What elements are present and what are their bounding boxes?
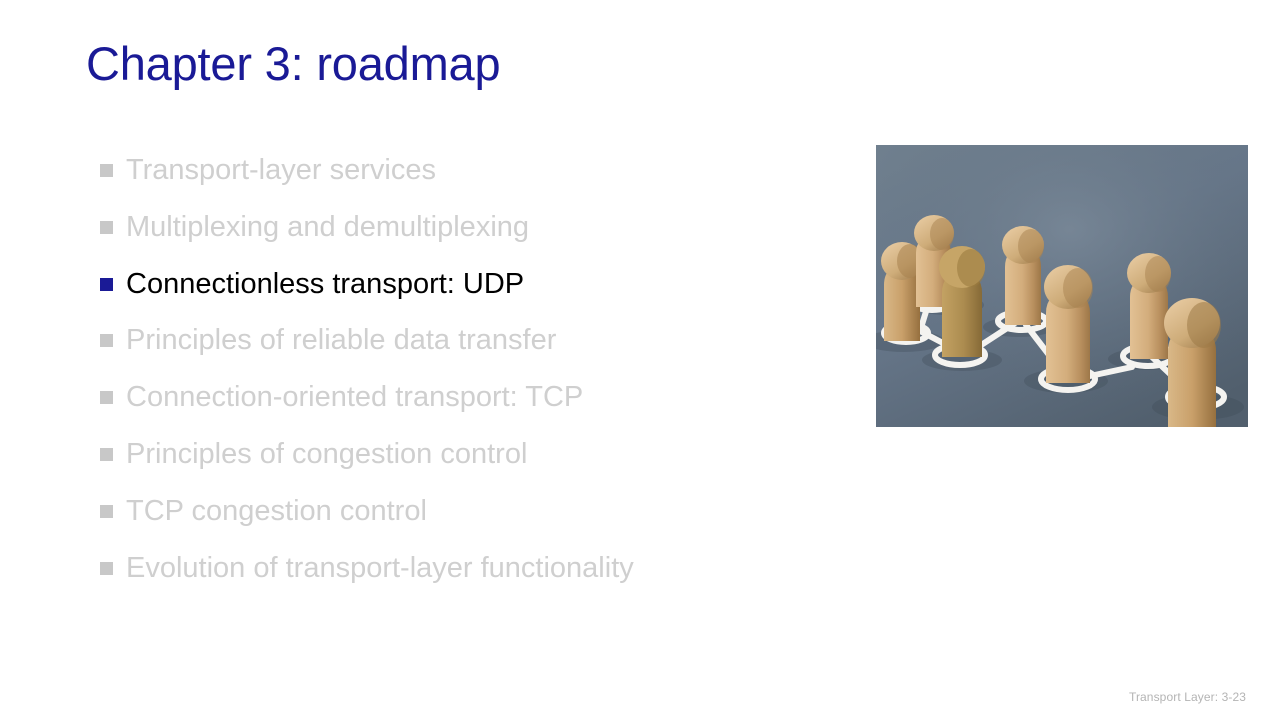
bullet-square-icon bbox=[100, 391, 113, 404]
list-item-label: Evolution of transport-layer functionali… bbox=[126, 546, 634, 592]
network-figures-photo bbox=[876, 145, 1248, 427]
figure-4 bbox=[1002, 226, 1044, 325]
list-item[interactable]: Multiplexing and demultiplexing bbox=[100, 205, 800, 251]
page-title: Chapter 3: roadmap bbox=[86, 39, 500, 90]
network-figures-illustration bbox=[876, 145, 1248, 427]
list-item-label: Principles of reliable data transfer bbox=[126, 318, 556, 364]
list-item-active[interactable]: Connectionless transport: UDP bbox=[100, 262, 800, 308]
bullet-square-icon bbox=[100, 278, 113, 291]
list-item[interactable]: Principles of congestion control bbox=[100, 432, 800, 478]
footer-slide-label: Transport Layer: 3-23 bbox=[1129, 690, 1246, 704]
figure-7 bbox=[1164, 298, 1221, 427]
list-item-label: Multiplexing and demultiplexing bbox=[126, 205, 529, 251]
list-item[interactable]: Connection-oriented transport: TCP bbox=[100, 375, 800, 421]
bullet-square-icon bbox=[100, 448, 113, 461]
list-item[interactable]: Evolution of transport-layer functionali… bbox=[100, 546, 800, 592]
list-item-label: Transport-layer services bbox=[126, 148, 436, 194]
figure-5 bbox=[1044, 265, 1093, 383]
list-item[interactable]: Principles of reliable data transfer bbox=[100, 318, 800, 364]
bullet-square-icon bbox=[100, 221, 113, 234]
figure-6 bbox=[1127, 253, 1171, 359]
bullet-square-icon bbox=[100, 505, 113, 518]
figure-3 bbox=[939, 246, 985, 357]
bullet-square-icon bbox=[100, 562, 113, 575]
list-item[interactable]: TCP congestion control bbox=[100, 489, 800, 535]
list-item-label: Connection-oriented transport: TCP bbox=[126, 375, 583, 421]
list-item[interactable]: Transport-layer services bbox=[100, 148, 800, 194]
list-item-label: Principles of congestion control bbox=[126, 432, 527, 478]
list-item-label: Connectionless transport: UDP bbox=[126, 262, 524, 308]
list-item-label: TCP congestion control bbox=[126, 489, 427, 535]
bullet-square-icon bbox=[100, 334, 113, 347]
slide-root: Chapter 3: roadmap Transport-layer servi… bbox=[0, 0, 1264, 717]
roadmap-list: Transport-layer services Multiplexing an… bbox=[100, 148, 800, 603]
bullet-square-icon bbox=[100, 164, 113, 177]
